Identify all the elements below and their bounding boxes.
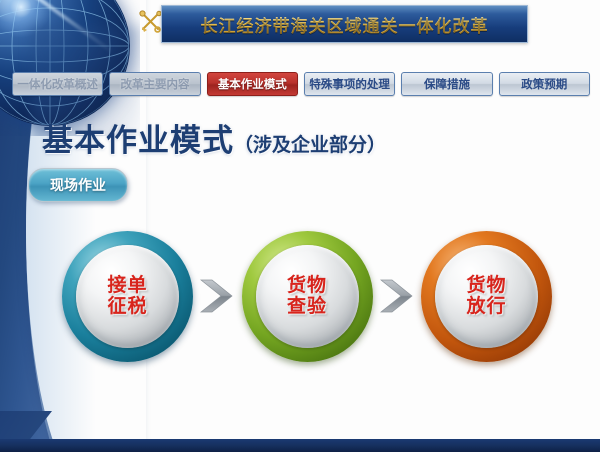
page-title-sub: （涉及企业部分） [234,134,386,156]
flow-node-label-line2: 查验 [287,296,327,317]
flow-node-inner: 货物 放行 [435,245,538,348]
flow-node-accept-and-tax[interactable]: 接单 征税 [62,231,193,362]
tab-overview-label: 一体化改革概述 [17,76,98,92]
status-badge: 现场作业 [28,168,128,202]
flow-arrow-2 [373,276,422,316]
nav-tab-bar: 一体化改革概述 改革主要内容 基本作业模式 特殊事项的处理 保障措施 政策预期 [12,72,590,94]
flow-node-goods-release[interactable]: 货物 放行 [421,231,552,362]
process-flow-diagram: 接单 征税 货物 查验 [62,228,552,364]
presentation-slide: 长江经济带海关区域通关一体化改革 一体化改革概述 改革主要内容 基本作业模式 特… [0,0,600,452]
flow-node-label-line1: 货物 [466,275,506,296]
page-title-main: 基本作业模式 [42,123,234,159]
title-banner: 长江经济带海关区域通关一体化改革 [161,5,528,43]
flow-arrow-1 [193,276,242,316]
flow-node-label-line1: 接单 [107,275,147,296]
tab-reform-content[interactable]: 改革主要内容 [109,72,200,96]
tab-overview[interactable]: 一体化改革概述 [12,72,103,96]
chevron-right-arrow-icon [195,276,239,316]
bottom-navy-bar [0,439,600,452]
tab-policy-expectation-label: 政策预期 [521,76,567,92]
tab-reform-content-label: 改革主要内容 [120,76,189,92]
flow-node-inner: 货物 查验 [256,245,359,348]
flow-node-inner: 接单 征税 [76,245,179,348]
tab-policy-expectation[interactable]: 政策预期 [499,72,590,96]
tab-special-matters-label: 特殊事项的处理 [309,76,390,92]
title-banner-text: 长江经济带海关区域通关一体化改革 [201,12,489,37]
tab-safeguard-measures[interactable]: 保障措施 [401,72,492,96]
tab-special-matters[interactable]: 特殊事项的处理 [304,72,395,96]
page-title: 基本作业模式（涉及企业部分） [42,115,386,160]
tab-basic-operation-mode[interactable]: 基本作业模式 [207,72,298,96]
chevron-right-arrow-icon [375,276,419,316]
flow-node-label-line1: 货物 [287,275,327,296]
globe-wireframe-icon [0,0,130,126]
tab-safeguard-measures-label: 保障措施 [424,76,470,92]
flow-node-label-line2: 征税 [107,296,147,317]
flow-node-goods-inspection[interactable]: 货物 查验 [242,231,373,362]
status-badge-label: 现场作业 [50,175,106,195]
flow-node-label-line2: 放行 [466,296,506,317]
tab-basic-operation-mode-label: 基本作业模式 [218,76,287,92]
